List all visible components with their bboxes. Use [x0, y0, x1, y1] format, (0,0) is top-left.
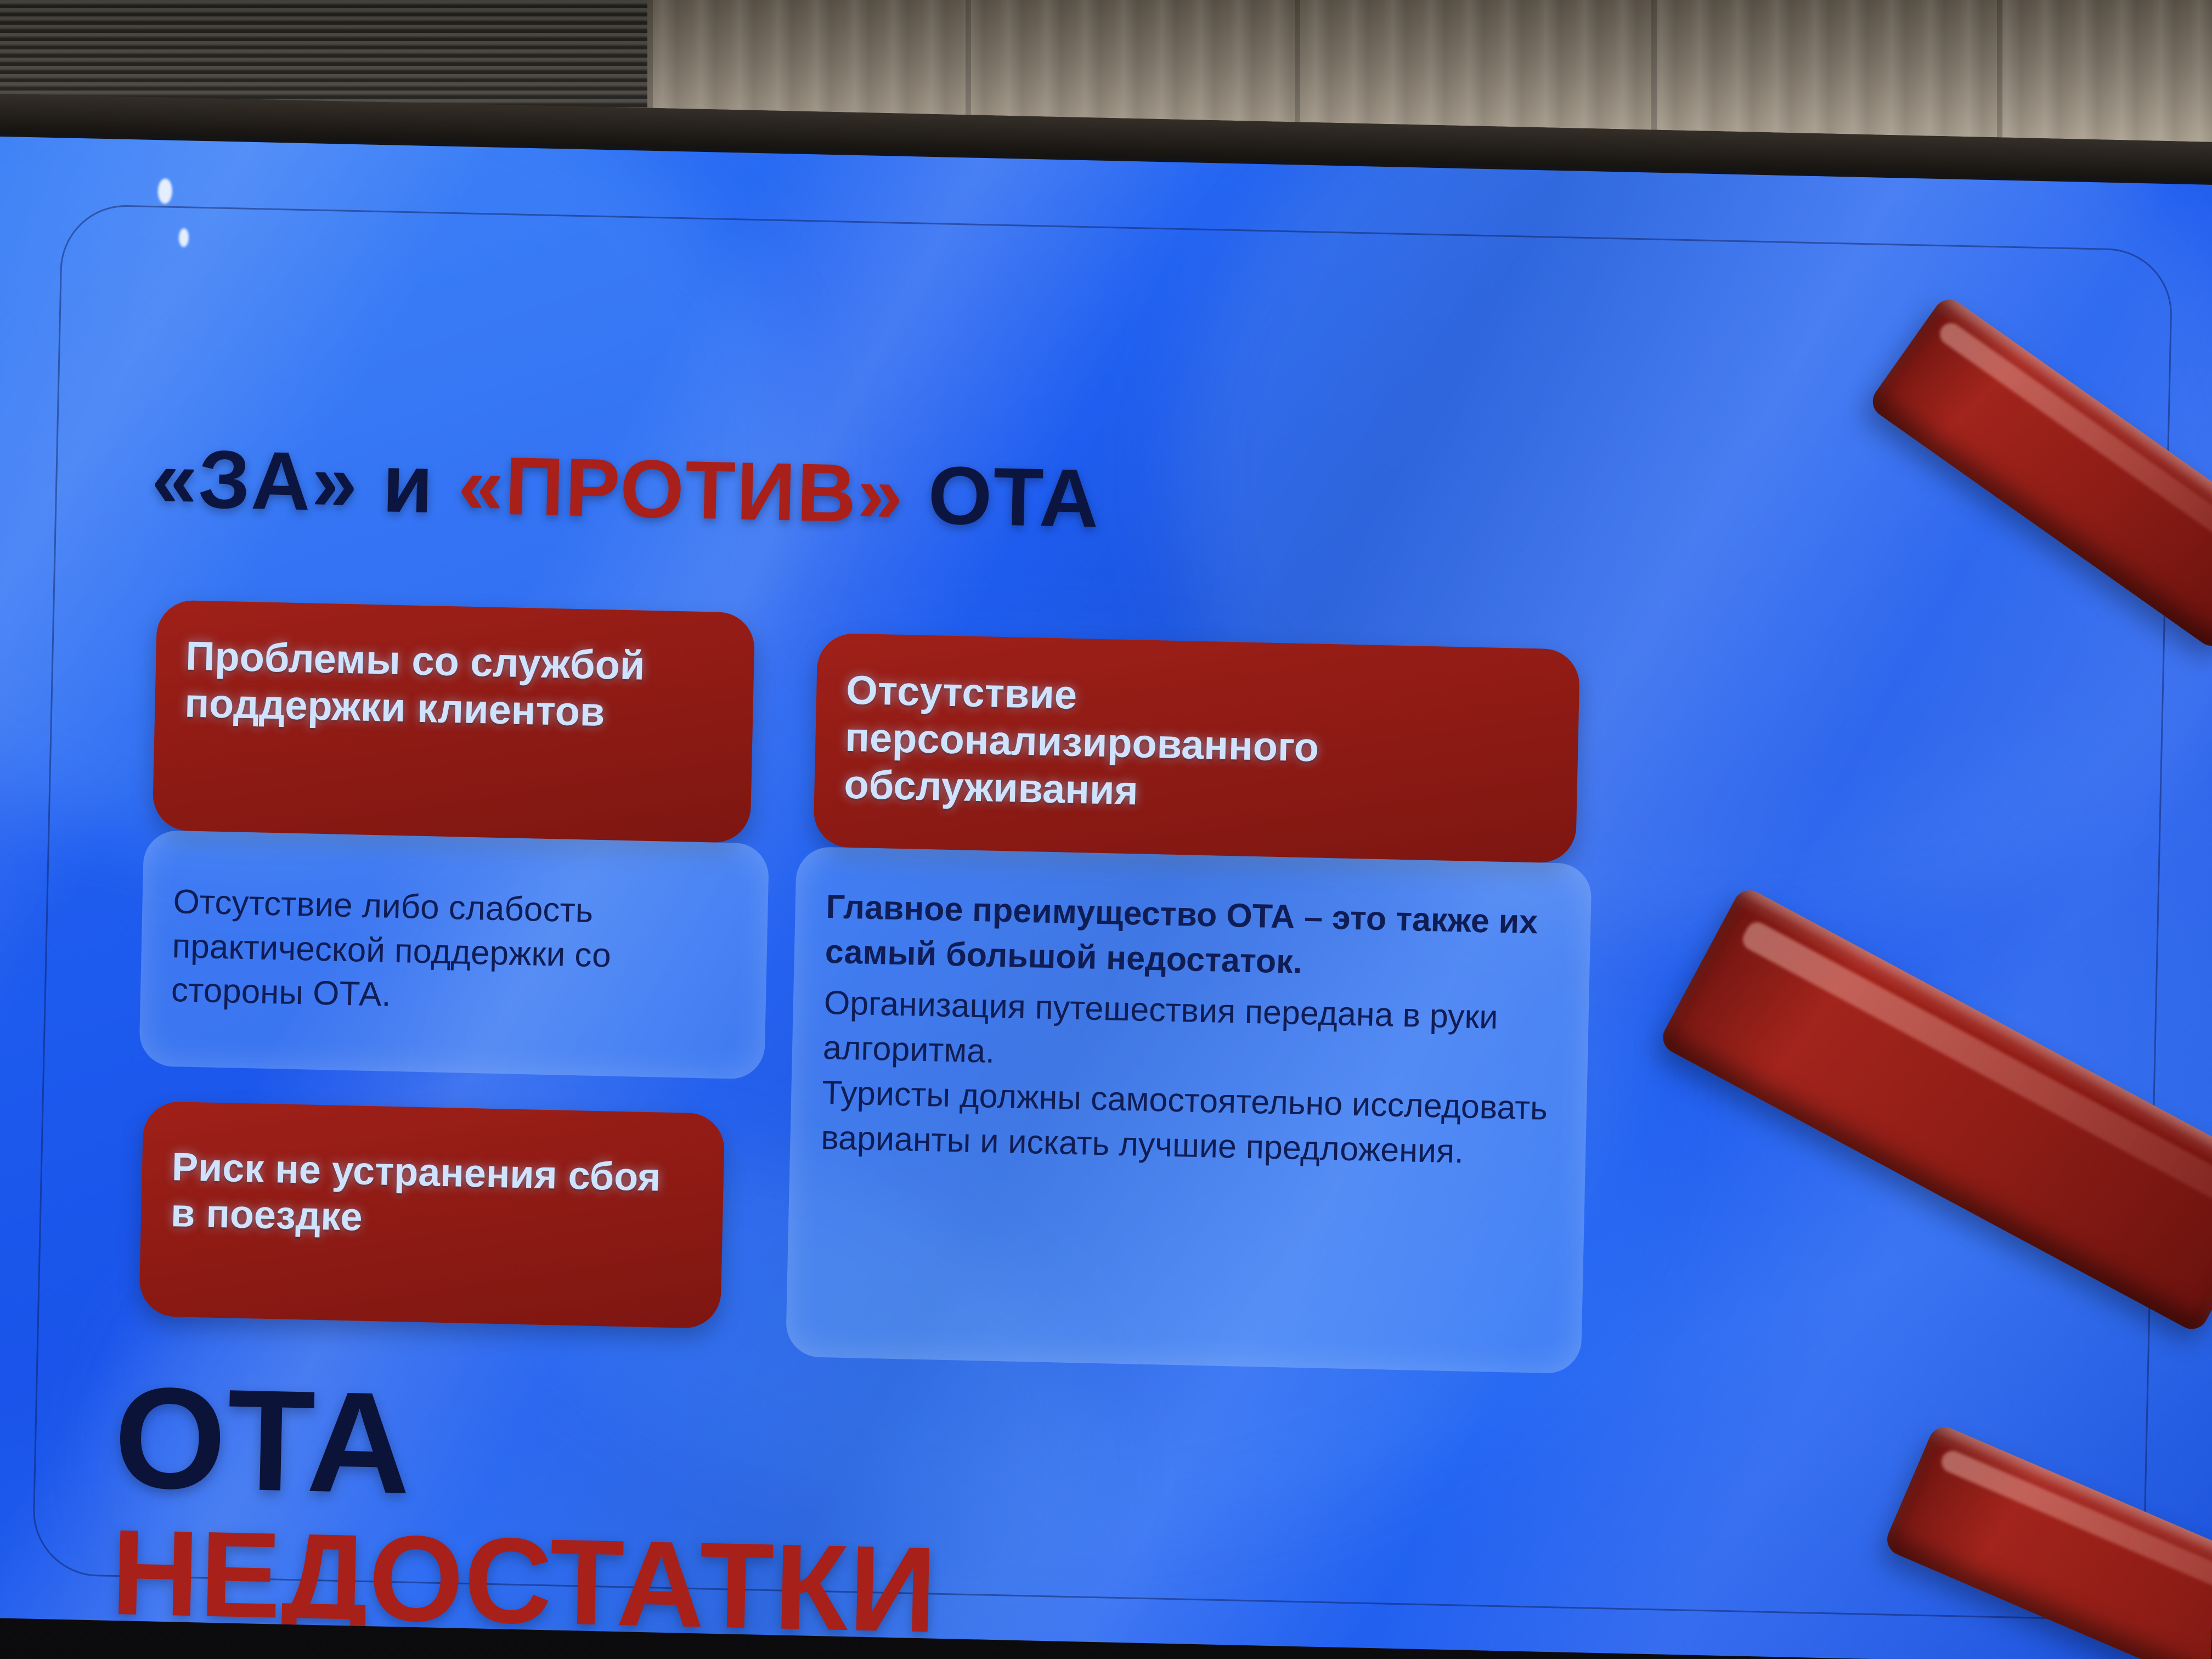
photo-of-presentation-screen: «ЗА» и «ПРОТИВ» ОТА Проблемы со службой … [0, 0, 2212, 1659]
info-panel-line: Отсутствие либо слабость практической по… [171, 880, 737, 1025]
info-panel-lead: Главное преимущество ОТА – это также их … [825, 884, 1560, 990]
info-panel-support-weakness: Отсутствие либо слабость практической по… [139, 830, 769, 1080]
red-card-trip-failure-risk: Риск не устранения сбоя в поездке [139, 1101, 725, 1329]
title-part-protiv: «ПРОТИВ» [457, 438, 905, 540]
red-card-support-problems: Проблемы со службой поддержки клиентов [152, 600, 755, 843]
info-panel-algorithm-tradeoff: Главное преимущество ОТА – это также их … [786, 847, 1592, 1374]
title-part-za: «ЗА» [151, 432, 360, 528]
title-part-and: и [358, 436, 459, 531]
red-card-no-personalization: Отсутствие персонализированного обслужив… [813, 633, 1580, 864]
screen-glare [157, 178, 172, 204]
title-part-ota: ОТА [903, 448, 1101, 545]
footer-headline-ota: ОТА [113, 1371, 414, 1510]
info-panel-line: Туристы должны самостоятельно исследоват… [821, 1070, 1556, 1176]
info-panel-line: Организация путешествия передана в руки … [822, 980, 1558, 1086]
presentation-slide: «ЗА» и «ПРОТИВ» ОТА Проблемы со службой … [0, 136, 2212, 1659]
